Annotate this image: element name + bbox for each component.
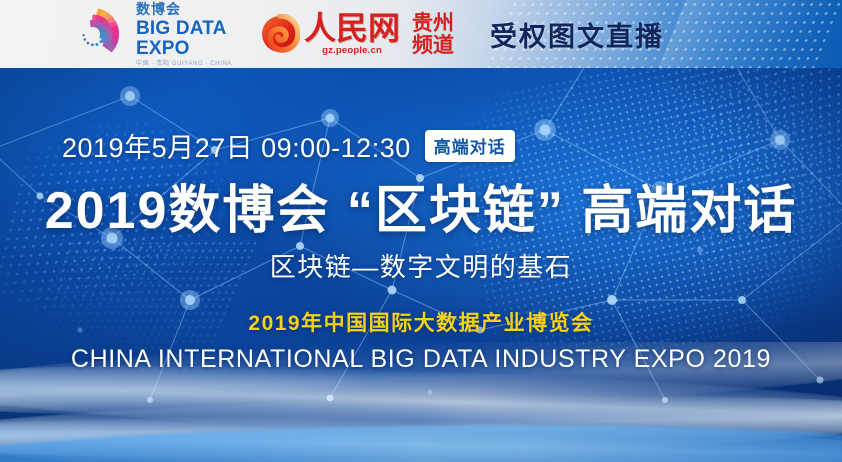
big-data-expo-logo[interactable]: 数博会 BIG DATA EXPO 中国 · 贵阳 GUIYANG · CHIN…: [60, 2, 232, 67]
authorized-live-label: 受权图文直播: [490, 15, 664, 54]
people-daily-logo[interactable]: 人民网 gz.people.cn 贵州 频道: [260, 12, 454, 56]
expo-spiral-icon: [60, 3, 126, 65]
expo-logo-en-line2: EXPO: [136, 39, 232, 58]
people-daily-swirl-icon: [260, 14, 300, 54]
event-type-badge: 高端对话: [425, 130, 515, 162]
expo-logo-location: 中国 · 贵阳 GUIYANG · CHINA: [136, 61, 232, 67]
live-stream-poster: 数博会 BIG DATA EXPO 中国 · 贵阳 GUIYANG · CHIN…: [0, 0, 842, 462]
poster-content: 2019年5月27日 09:00-12:30 高端对话 2019数博会 “区块链…: [0, 68, 842, 462]
channel-line-1: 贵州: [412, 12, 454, 34]
people-daily-url: gz.people.cn: [304, 46, 400, 56]
event-dateline: 2019年5月27日 09:00-12:30 高端对话: [62, 126, 515, 165]
expo-name-cn: 2019年中国国际大数据产业博览会: [0, 307, 842, 337]
people-daily-cn-name: 人民网: [304, 12, 400, 44]
expo-name-en: CHINA INTERNATIONAL BIG DATA INDUSTRY EX…: [0, 345, 842, 374]
expo-logo-en-line1: BIG DATA: [136, 19, 232, 38]
channel-line-2: 频道: [412, 34, 454, 56]
event-headline: 2019数博会 “区块链” 高端对话: [0, 168, 842, 243]
expo-logo-cn: 数博会: [136, 2, 232, 16]
event-subheadline: 区块链—数字文明的基石: [0, 247, 842, 284]
header-banner: 数博会 BIG DATA EXPO 中国 · 贵阳 GUIYANG · CHIN…: [0, 0, 842, 68]
people-daily-channel: 贵州 频道: [412, 12, 454, 56]
event-date-time: 2019年5月27日 09:00-12:30: [62, 126, 411, 165]
